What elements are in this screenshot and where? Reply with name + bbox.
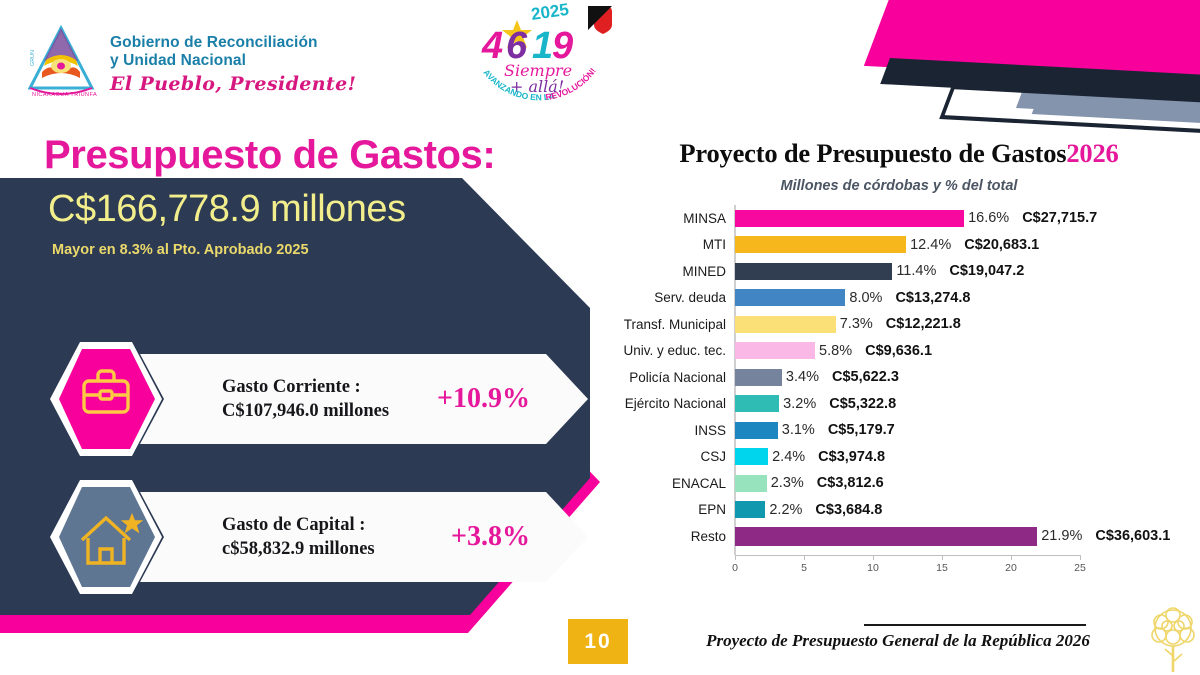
- chart-bar-amount-label: C$9,636.1: [865, 343, 932, 359]
- chart-bar-amount-label: C$27,715.7: [1022, 210, 1097, 226]
- chart-row: INSS3.1%C$5,179.7: [600, 417, 1195, 444]
- chart-title-year: 2026: [1066, 138, 1118, 168]
- chart-x-tick: [735, 555, 736, 560]
- chart-category-label: Univ. y educ. tec.: [600, 343, 735, 358]
- chart-x-tick: [1080, 555, 1081, 560]
- chart-x-tick: [1011, 555, 1012, 560]
- government-logo: GRUN NICARAGUA TRIUNFA Gobierno de Recon…: [22, 22, 356, 100]
- badge-hex-frame: [48, 340, 164, 458]
- chart-title-main: Proyecto de Presupuesto de Gastos: [679, 138, 1066, 168]
- chart-bar-zone: 7.3%C$12,221.8: [735, 311, 1195, 338]
- badge-label: Gasto de Capital : c$58,832.9 millones: [222, 513, 375, 562]
- chart-bar-percent-label: 2.2%: [769, 502, 802, 518]
- chart-x-tick-label: 5: [801, 562, 807, 574]
- chart-bar-amount-label: C$19,047.2: [949, 263, 1024, 279]
- badge-hex-frame: [48, 478, 164, 596]
- chart-bar-amount-label: C$36,603.1: [1095, 528, 1170, 544]
- chart-row: MTI12.4%C$20,683.1: [600, 232, 1195, 259]
- chart-bar-amount-label: C$20,683.1: [964, 237, 1039, 253]
- chart-category-label: EPN: [600, 502, 735, 517]
- chart-x-tick-label: 20: [1005, 562, 1017, 574]
- chart-row: Policía Nacional3.4%C$5,622.3: [600, 364, 1195, 391]
- government-logo-text: Gobierno de Reconciliación y Unidad Naci…: [110, 22, 356, 95]
- badge-plate: Gasto de Capital : c$58,832.9 millones +…: [140, 492, 588, 582]
- chart-bar-zone: 5.8%C$9,636.1: [735, 338, 1195, 365]
- chart-bar[interactable]: [735, 236, 906, 253]
- chart-bar[interactable]: [735, 422, 778, 439]
- chart-bar[interactable]: [735, 448, 768, 465]
- svg-text:GRUN: GRUN: [30, 50, 36, 66]
- chart-bar-amount-label: C$3,974.8: [818, 449, 885, 465]
- chart-subtitle: Millones de córdobas y % del total: [604, 178, 1194, 194]
- svg-text:4: 4: [481, 25, 503, 67]
- chart-category-label: Transf. Municipal: [600, 317, 735, 332]
- chart-bar-percent-label: 16.6%: [968, 210, 1009, 226]
- chart-bar-percent-label: 21.9%: [1041, 528, 1082, 544]
- chart-bar[interactable]: [735, 395, 779, 412]
- chart-row: Transf. Municipal7.3%C$12,221.8: [600, 311, 1195, 338]
- chart-row: Serv. deuda8.0%C$13,274.8: [600, 285, 1195, 312]
- chart-bar-percent-label: 3.2%: [783, 396, 816, 412]
- chart-category-label: ENACAL: [600, 476, 735, 491]
- chart-category-label: CSJ: [600, 449, 735, 464]
- gov-logo-line1: Gobierno de Reconciliación: [110, 34, 318, 51]
- chart-row: Resto21.9%C$36,603.1: [600, 523, 1195, 550]
- chart-x-tick-label: 0: [732, 562, 738, 574]
- chart-bar-percent-label: 2.3%: [771, 475, 804, 491]
- chart-bar[interactable]: [735, 501, 765, 518]
- slide-root: GRUN NICARAGUA TRIUNFA Gobierno de Recon…: [0, 0, 1200, 675]
- chart-rows: MINSA16.6%C$27,715.7MTI12.4%C$20,683.1MI…: [600, 205, 1195, 550]
- gov-slogan: El Pueblo, Presidente!: [110, 73, 356, 95]
- chart-bar-zone: 3.1%C$5,179.7: [735, 417, 1195, 444]
- budget-total-amount: C$166,778.9 millones: [48, 188, 406, 231]
- chart-row: MINED11.4%C$19,047.2: [600, 258, 1195, 285]
- chart-row: EPN2.2%C$3,684.8: [600, 497, 1195, 524]
- chart-category-label: INSS: [600, 423, 735, 438]
- chart-bar-amount-label: C$5,179.7: [828, 422, 895, 438]
- chart-bar-percent-label: 3.4%: [786, 369, 819, 385]
- chart-category-label: MTI: [600, 237, 735, 252]
- chart-bar-percent-label: 5.8%: [819, 343, 852, 359]
- expenditure-bar-chart: MINSA16.6%C$27,715.7MTI12.4%C$20,683.1MI…: [600, 205, 1195, 600]
- chart-bar-zone: 8.0%C$13,274.8: [735, 285, 1195, 312]
- chart-title: Proyecto de Presupuesto de Gastos2026: [604, 138, 1194, 169]
- chart-row: CSJ2.4%C$3,974.8: [600, 444, 1195, 471]
- nicaragua-emblem-icon: GRUN NICARAGUA TRIUNFA: [22, 22, 100, 100]
- chart-bar-amount-label: C$13,274.8: [895, 290, 970, 306]
- chart-x-tick: [873, 555, 874, 560]
- chart-x-tick: [942, 555, 943, 560]
- chart-bar[interactable]: [735, 263, 892, 280]
- chart-category-label: Policía Nacional: [600, 370, 735, 385]
- budget-comparison-note: Mayor en 8.3% al Pto. Aprobado 2025: [52, 240, 309, 261]
- chart-bar-zone: 3.4%C$5,622.3: [735, 364, 1195, 391]
- chart-category-label: Ejército Nacional: [600, 396, 735, 411]
- svg-text:NICARAGUA TRIUNFA: NICARAGUA TRIUNFA: [32, 92, 97, 98]
- chart-row: MINSA16.6%C$27,715.7: [600, 205, 1195, 232]
- chart-bar-percent-label: 7.3%: [840, 316, 873, 332]
- chart-row: Univ. y educ. tec.5.8%C$9,636.1: [600, 338, 1195, 365]
- chart-bar-zone: 2.4%C$3,974.8: [735, 444, 1195, 471]
- page-number-chip: 10: [568, 619, 628, 664]
- chart-bar-zone: 12.4%C$20,683.1: [735, 232, 1195, 259]
- chart-x-axis-line: [735, 555, 1080, 556]
- chart-bar[interactable]: [735, 210, 964, 227]
- chart-bar[interactable]: [735, 342, 815, 359]
- chart-x-tick: [804, 555, 805, 560]
- chart-bar-amount-label: C$12,221.8: [886, 316, 961, 332]
- chart-bar[interactable]: [735, 527, 1037, 546]
- chart-x-tick-label: 25: [1074, 562, 1086, 574]
- chart-x-tick-label: 10: [867, 562, 879, 574]
- tree-icon: [1145, 604, 1200, 674]
- chart-bar-zone: 11.4%C$19,047.2: [735, 258, 1195, 285]
- badge-percent: +3.8%: [451, 521, 530, 553]
- badge-plate: Gasto Corriente : C$107,946.0 millones +…: [140, 354, 588, 444]
- chart-x-tick-label: 15: [936, 562, 948, 574]
- chart-row: Ejército Nacional3.2%C$5,322.8: [600, 391, 1195, 418]
- chart-category-label: Serv. deuda: [600, 290, 735, 305]
- chart-category-label: MINED: [600, 264, 735, 279]
- chart-bar-percent-label: 11.4%: [896, 263, 936, 279]
- anniversary-logo-icon: 2025 4 6 1 9 Siempre + allá! AVANZANDO E…: [470, 2, 640, 112]
- chart-bar-zone: 21.9%C$36,603.1: [735, 523, 1195, 550]
- anniversary-year-text: 2025: [530, 2, 570, 24]
- chart-bar-amount-label: C$3,684.8: [815, 502, 882, 518]
- chart-bar-zone: 16.6%C$27,715.7: [735, 205, 1195, 232]
- footer-text: Proyecto de Presupuesto General de la Re…: [648, 631, 1148, 651]
- chart-bar[interactable]: [735, 369, 782, 386]
- chart-bar-percent-label: 8.0%: [849, 290, 882, 306]
- chart-x-axis: 0510152025: [735, 555, 1195, 589]
- chart-row: ENACAL2.3%C$3,812.6: [600, 470, 1195, 497]
- chart-bar-zone: 3.2%C$5,322.8: [735, 391, 1195, 418]
- chart-bar-zone: 2.3%C$3,812.6: [735, 470, 1195, 497]
- gov-logo-line2: y Unidad Nacional: [110, 52, 246, 69]
- chart-bar[interactable]: [735, 475, 767, 492]
- chart-bar-percent-label: 2.4%: [772, 449, 805, 465]
- chart-category-label: MINSA: [600, 211, 735, 226]
- chart-bar-percent-label: 3.1%: [782, 422, 815, 438]
- page-title: Presupuesto de Gastos:: [44, 133, 495, 178]
- chart-bar-zone: 2.2%C$3,684.8: [735, 497, 1195, 524]
- chart-bar-amount-label: C$5,322.8: [829, 396, 896, 412]
- chart-bar[interactable]: [735, 316, 836, 333]
- chart-bar[interactable]: [735, 289, 845, 306]
- chart-bar-percent-label: 12.4%: [910, 237, 951, 253]
- badge-label: Gasto Corriente : C$107,946.0 millones: [222, 375, 389, 424]
- chart-bar-amount-label: C$3,812.6: [817, 475, 884, 491]
- badge-percent: +10.9%: [437, 383, 530, 415]
- footer-rule: [864, 624, 1086, 626]
- chart-bar-amount-label: C$5,622.3: [832, 369, 899, 385]
- chart-category-label: Resto: [600, 529, 735, 544]
